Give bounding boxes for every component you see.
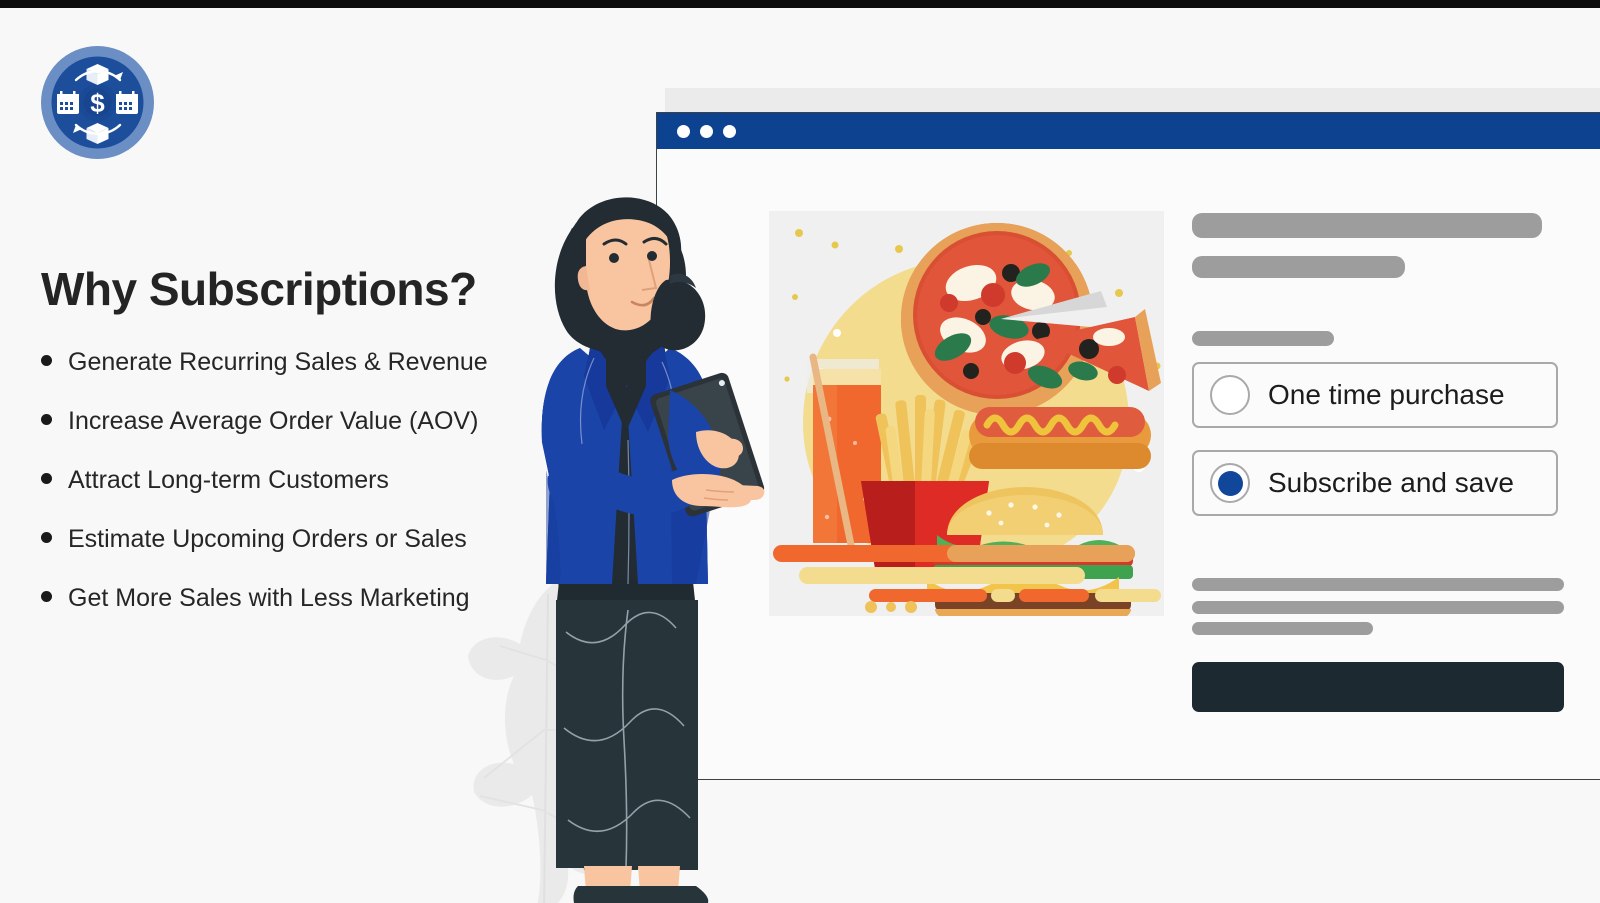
window-shadow-strip [665,88,1600,112]
radio-selected-icon[interactable] [1210,463,1250,503]
list-item-label: Estimate Upcoming Orders or Sales [68,525,467,554]
svg-text:$: $ [90,88,105,118]
woman-with-tablet-illustration [520,180,790,903]
radio-selected-dot [1218,471,1243,496]
option-subscribe-and-save[interactable]: Subscribe and save [1192,450,1558,516]
list-item: Generate Recurring Sales & Revenue [41,348,581,407]
option-one-time-purchase[interactable]: One time purchase [1192,362,1558,428]
option-label: One time purchase [1268,379,1505,411]
option-label-placeholder [1192,331,1334,346]
option-label: Subscribe and save [1268,467,1514,499]
window-titlebar[interactable] [657,113,1600,149]
page-title: Why Subscriptions? [41,262,477,316]
description-line-2 [1192,601,1564,614]
title-placeholder [1192,213,1542,238]
list-item-label: Attract Long-term Customers [68,466,389,495]
list-item-label: Get More Sales with Less Marketing [68,584,470,613]
list-item-label: Increase Average Order Value (AOV) [68,407,478,436]
bullet-dot-icon [41,532,52,543]
window-dot-icon[interactable] [700,125,713,138]
radio-unselected-icon[interactable] [1210,375,1250,415]
slide-canvas: $ [0,0,1600,903]
add-to-cart-button[interactable] [1192,662,1564,712]
bullet-dot-icon [41,355,52,366]
list-item: Increase Average Order Value (AOV) [41,407,581,466]
window-dot-icon[interactable] [677,125,690,138]
window-dot-icon[interactable] [723,125,736,138]
subtitle-placeholder [1192,256,1405,278]
list-item: Attract Long-term Customers [41,466,581,525]
subscription-cycle-logo: $ [41,46,154,159]
list-item: Estimate Upcoming Orders or Sales [41,525,581,584]
list-item-label: Generate Recurring Sales & Revenue [68,348,488,377]
top-black-strip [0,0,1600,8]
bullet-dot-icon [41,591,52,602]
description-line-3 [1192,622,1373,635]
bullet-dot-icon [41,414,52,425]
bullet-dot-icon [41,473,52,484]
product-image-panel[interactable] [769,211,1164,616]
description-line-1 [1192,578,1564,591]
